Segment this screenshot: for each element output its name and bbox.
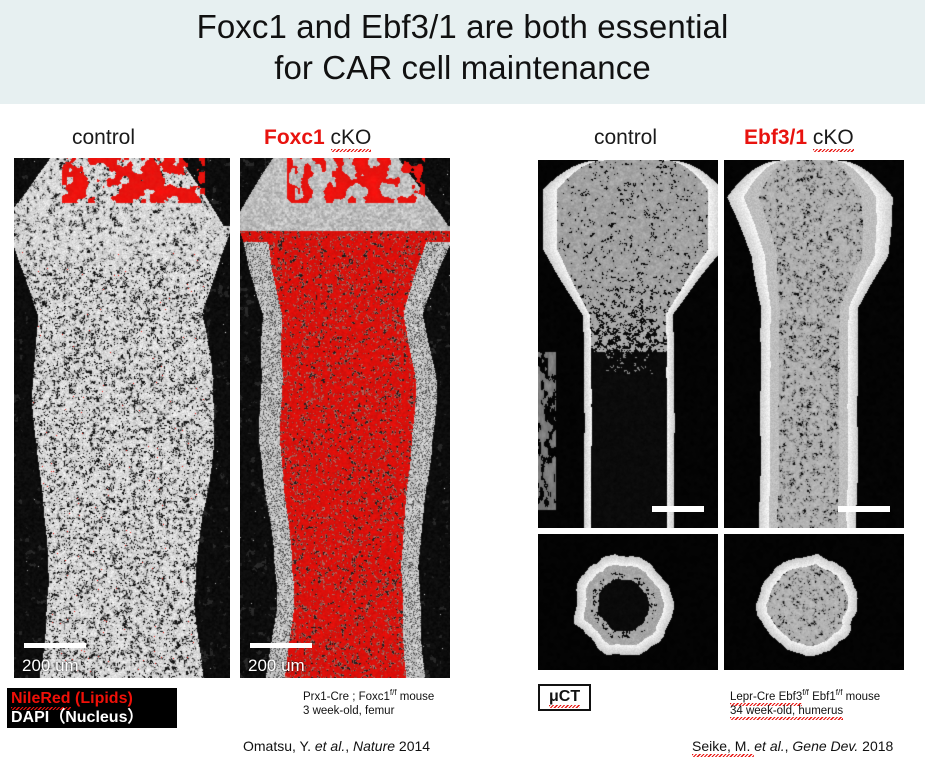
caption-text-b: Ebf1: [809, 691, 836, 703]
citation-etal: et al.: [315, 738, 345, 754]
right-panel-label-ebf31-cko: Ebf3/1 cKO: [744, 126, 854, 150]
scale-bar: [24, 643, 86, 648]
citation-year: 2014: [395, 738, 430, 754]
scale-bar: [250, 643, 312, 648]
page-title: Foxc1 and Ebf3/1 are both essential for …: [0, 6, 925, 88]
modality-tag-label: μCT: [549, 688, 580, 708]
microct-control-longitudinal: [538, 160, 718, 528]
fluorescence-channel-legend: NileRed (Lipids) DAPI（Nucleus）: [7, 688, 177, 728]
label-text: control: [594, 126, 657, 149]
title-line-2: for CAR cell maintenance: [0, 47, 925, 88]
microct-control-cross-section: [538, 534, 718, 670]
legend-lipids-label: (Lipids): [71, 690, 133, 707]
gene-name-ebf31: Ebf3/1: [744, 126, 807, 149]
left-panel-label-foxc1-cko: Foxc1 cKO: [264, 126, 371, 150]
citation-year: 2018: [858, 738, 893, 754]
caption-line-2: 3 week-old, femur: [303, 704, 434, 718]
citation-author: Seike, M.: [692, 738, 754, 757]
micrograph-control-fluorescence: 200 um: [14, 158, 230, 678]
left-citation: Omatsu, Y. et al., Nature 2014: [243, 738, 430, 754]
caption-line-1: Lepr-Cre Ebf3f/f Ebf1f/f mouse: [730, 686, 880, 704]
title-line-1: Foxc1 and Ebf3/1 are both essential: [197, 8, 729, 45]
citation-author: Omatsu, Y.: [243, 738, 315, 754]
caption-line-2-text: 34 week-old, humerus: [730, 705, 843, 720]
caption-text-a: Prx1-Cre ; Foxc1: [303, 691, 390, 703]
caption-text-c: mouse: [842, 691, 880, 703]
legend-nilered-label: NileRed: [11, 690, 71, 710]
gene-name-foxc1: Foxc1: [264, 126, 325, 149]
microct-panel-group: [538, 160, 904, 670]
legend-line-nilered: NileRed (Lipids): [11, 689, 173, 708]
caption-superscript: f/f: [390, 688, 397, 697]
label-text: control: [72, 126, 135, 149]
legend-line-dapi: DAPI（Nucleus）: [11, 708, 173, 727]
scale-bar: [652, 506, 704, 512]
citation-etal: et al.: [754, 738, 784, 754]
microct-cko-longitudinal: [724, 160, 904, 528]
scale-bar-label: 200 um: [22, 656, 79, 676]
micrograph-canvas: [14, 158, 230, 678]
microct-canvas: [724, 534, 904, 670]
right-panel-label-control: control: [594, 126, 657, 150]
left-genotype-caption: Prx1-Cre ; Foxc1f/f mouse 3 week-old, fe…: [303, 686, 434, 718]
microct-cko-cross-section: [724, 534, 904, 670]
citation-journal: Nature: [353, 738, 395, 754]
modality-tag-microct: μCT: [538, 684, 591, 711]
micrograph-canvas: [240, 158, 450, 678]
caption-text-b: mouse: [397, 691, 435, 703]
microct-canvas: [538, 534, 718, 670]
caption-line-2: 34 week-old, humerus: [730, 704, 880, 718]
citation-comma: ,: [345, 738, 353, 754]
caption-superscript-1: f/f: [802, 688, 809, 697]
microct-canvas: [724, 160, 904, 528]
scale-bar: [838, 506, 890, 512]
right-genotype-caption: Lepr-Cre Ebf3f/f Ebf1f/f mouse 34 week-o…: [730, 686, 880, 718]
right-citation: Seike, M. et al., Gene Dev. 2018: [692, 738, 893, 754]
citation-journal: Gene Dev.: [792, 738, 858, 754]
left-panel-label-control: control: [72, 126, 135, 150]
microct-canvas: [538, 160, 718, 528]
cko-suffix: cKO: [813, 126, 854, 152]
caption-line-1: Prx1-Cre ; Foxc1f/f mouse: [303, 686, 434, 704]
cko-suffix: cKO: [331, 126, 372, 152]
micrograph-foxc1-cko-fluorescence: 200 um: [240, 158, 450, 678]
scale-bar-label: 200 um: [248, 656, 305, 676]
